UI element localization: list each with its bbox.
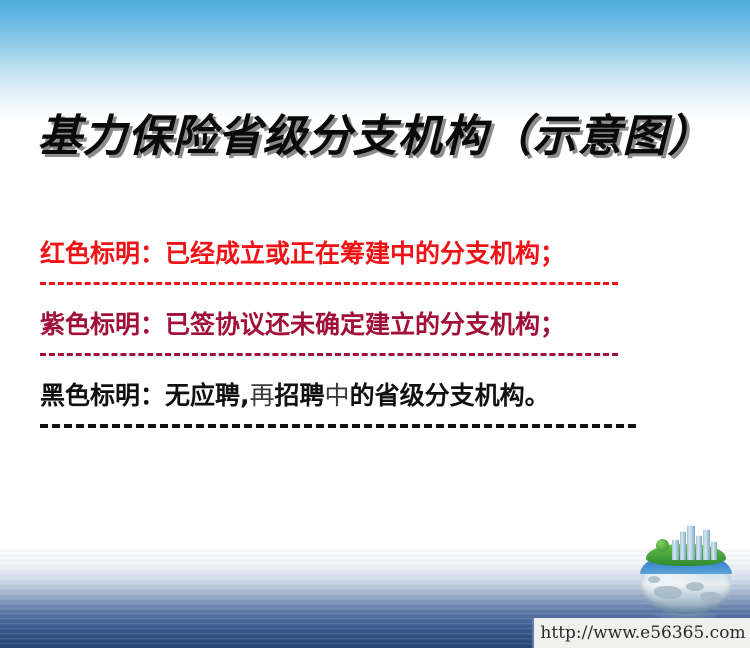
legend-row-purple: 紫色标明：已签协议还未确定建立的分支机构；: [40, 303, 680, 356]
tree-icon: [656, 539, 669, 552]
building-shape: [687, 525, 695, 560]
legend-description-red: 已经成立或正在筹建中的分支机构；: [165, 239, 565, 268]
building-shape: [672, 539, 679, 560]
continent-shape: [648, 576, 660, 583]
watermark-url-text: http://www.e56365.com: [540, 623, 745, 643]
building-shape: [703, 529, 710, 560]
divider-black: [40, 424, 636, 428]
legend-description-purple-b: 还未确定建立的分支机构；: [265, 310, 565, 339]
legend-description-purple-a: 已签协议: [165, 310, 265, 339]
presentation-slide: 基力保险省级分支机构（示意图） 红色标明：已经成立或正在筹建中的分支机构； 紫色…: [0, 0, 750, 648]
building-shape: [696, 535, 702, 560]
legend-label-black: 黑色标明：: [40, 381, 165, 410]
legend-label-purple: 紫色标明：: [40, 310, 165, 339]
watermark-url-box: http://www.e56365.com: [532, 618, 750, 648]
continent-shape: [700, 592, 722, 603]
city-skyline-icon: [672, 526, 720, 560]
legend-text-purple: 紫色标明：已签协议还未确定建立的分支机构；: [40, 303, 680, 347]
legend-row-black: 黑色标明：无应聘,再招聘中的省级分支机构。: [40, 374, 680, 428]
legend-description-black-thin-a: 再: [250, 381, 275, 410]
globe-city-logo: [634, 526, 738, 618]
legend-text-black: 黑色标明：无应聘,再招聘中的省级分支机构。: [40, 374, 680, 418]
legend-label-red: 红色标明：: [40, 239, 165, 268]
legend-description-black-b: 招聘: [275, 381, 325, 410]
page-title: 基力保险省级分支机构（示意图）: [0, 100, 750, 164]
legend-description-black-thin-b: 中: [325, 381, 350, 410]
continent-shape: [686, 582, 704, 591]
continent-shape: [654, 586, 682, 599]
legend-block: 红色标明：已经成立或正在筹建中的分支机构； 紫色标明：已签协议还未确定建立的分支…: [40, 232, 680, 446]
building-shape: [711, 541, 717, 560]
divider-red: [40, 282, 618, 285]
legend-text-red: 红色标明：已经成立或正在筹建中的分支机构；: [40, 232, 680, 276]
divider-purple: [40, 353, 618, 356]
building-shape: [680, 531, 686, 560]
legend-description-black-c: 的省级分支机构。: [350, 381, 550, 410]
legend-description-black-a: 无应聘,: [165, 381, 250, 410]
legend-row-red: 红色标明：已经成立或正在筹建中的分支机构；: [40, 232, 680, 285]
